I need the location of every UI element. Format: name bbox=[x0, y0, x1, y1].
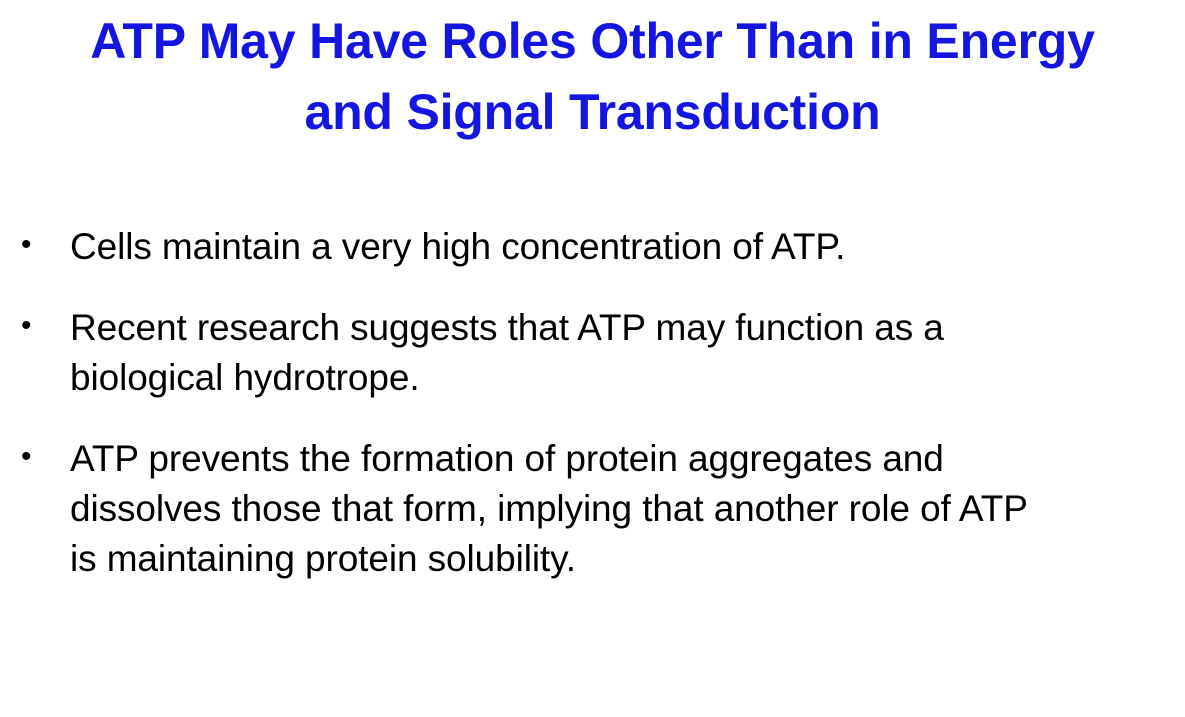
list-item: • ATP prevents the formation of protein … bbox=[0, 434, 1185, 584]
list-item: • Cells maintain a very high concentrati… bbox=[0, 222, 1185, 272]
list-item-line: is maintaining protein solubility. bbox=[70, 534, 1100, 584]
bullet-point-icon: • bbox=[21, 303, 41, 353]
slide-title-line-1: ATP May Have Roles Other Than in Energy bbox=[40, 6, 1145, 77]
list-item-text: ATP prevents the formation of protein ag… bbox=[70, 434, 1100, 584]
list-item-line: Cells maintain a very high concentration… bbox=[70, 222, 1100, 272]
list-item-line: biological hydrotrope. bbox=[70, 353, 1100, 403]
slide-canvas: ATP May Have Roles Other Than in Energy … bbox=[0, 0, 1185, 717]
slide-title: ATP May Have Roles Other Than in Energy … bbox=[40, 6, 1145, 148]
bullet-point-icon: • bbox=[21, 222, 41, 272]
list-item-line: ATP prevents the formation of protein ag… bbox=[70, 434, 1100, 484]
bullet-point-icon: • bbox=[21, 434, 41, 484]
list-item-text: Cells maintain a very high concentration… bbox=[70, 222, 1100, 272]
list-item: • Recent research suggests that ATP may … bbox=[0, 303, 1185, 403]
slide-title-line-2: and Signal Transduction bbox=[40, 77, 1145, 148]
list-item-text: Recent research suggests that ATP may fu… bbox=[70, 303, 1100, 403]
list-item-line: Recent research suggests that ATP may fu… bbox=[70, 303, 1100, 353]
list-item-line: dissolves those that form, implying that… bbox=[70, 484, 1100, 534]
bullet-list: • Cells maintain a very high concentrati… bbox=[0, 222, 1185, 584]
